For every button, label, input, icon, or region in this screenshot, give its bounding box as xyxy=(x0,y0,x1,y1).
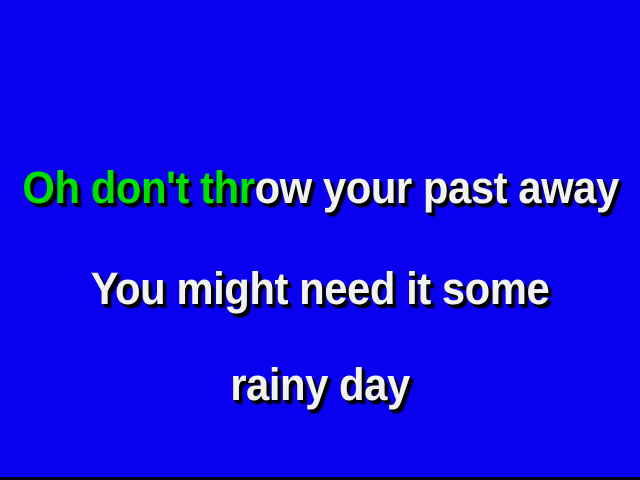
lyric-line-3: rainy day xyxy=(22,362,617,407)
lyric-line-2-unsung-segment: You might need it some xyxy=(91,263,550,314)
lyric-block: Oh don't throw your past away You might … xyxy=(0,0,640,480)
karaoke-screen: Oh don't throw your past away You might … xyxy=(0,0,640,480)
lyric-line-3-unsung-segment: rainy day xyxy=(230,359,410,410)
lyric-line-1-sung-segment: Oh don't thr xyxy=(22,162,254,213)
lyric-line-1-unsung-segment: ow your past away xyxy=(255,162,619,213)
lyric-line-2: You might need it some xyxy=(22,266,617,311)
lyric-line-1: Oh don't throw your past away xyxy=(22,165,617,210)
